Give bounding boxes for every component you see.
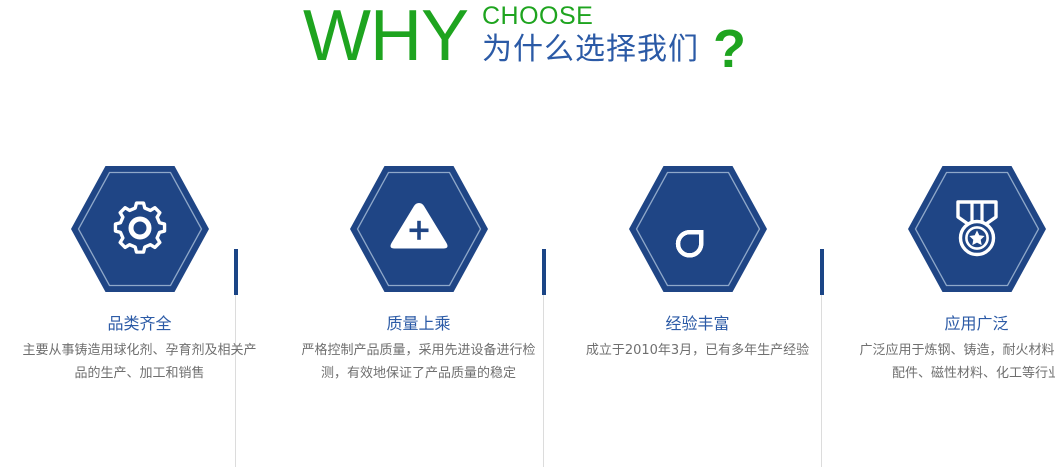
feature-description: 成立于2010年3月，已有多年生产经验 — [580, 339, 815, 362]
feature-column-3[interactable]: 经验丰富 成立于2010年3月，已有多年生产经验 — [558, 96, 837, 416]
feature-title: 品类齐全 — [0, 314, 279, 334]
clover-icon — [629, 166, 767, 292]
heading-choose: CHOOSE — [482, 3, 699, 30]
feature-columns: 品类齐全 主要从事铸造用球化剂、孕育剂及相关产品的生产、加工和销售 质量上乘 严… — [0, 96, 1055, 416]
section-header: WHY CHOOSE 为什么选择我们 ? — [0, 0, 1055, 96]
heading-why: WHY — [303, 0, 468, 72]
hexagon-badge-4 — [908, 166, 1046, 292]
hexagon-badge-1 — [71, 166, 209, 292]
gear-icon — [71, 166, 209, 292]
header-inner: WHY CHOOSE 为什么选择我们 ? — [303, 0, 746, 76]
heading-mid-block: CHOOSE 为什么选择我们 — [482, 3, 699, 68]
hexagon-badge-2 — [350, 166, 488, 292]
hexagon-badge-3 — [629, 166, 767, 292]
feature-column-2[interactable]: 质量上乘 严格控制产品质量，采用先进设备进行检测，有效地保证了产品质量的稳定 — [279, 96, 558, 416]
feature-description: 严格控制产品质量，采用先进设备进行检测，有效地保证了产品质量的稳定 — [301, 339, 536, 385]
feature-description: 主要从事铸造用球化剂、孕育剂及相关产品的生产、加工和销售 — [22, 339, 257, 385]
heading-cn-subtitle: 为什么选择我们 — [482, 32, 699, 68]
feature-title: 质量上乘 — [279, 314, 558, 334]
feature-title: 经验丰富 — [558, 314, 837, 334]
feature-title: 应用广泛 — [837, 314, 1055, 334]
triangle-plus-icon — [350, 166, 488, 292]
feature-description: 广泛应用于炼钢、铸造，耐火材料、汽车配件、磁性材料、化工等行业 — [859, 339, 1055, 385]
feature-column-4[interactable]: 应用广泛 广泛应用于炼钢、铸造，耐火材料、汽车配件、磁性材料、化工等行业 — [837, 96, 1055, 416]
feature-column-1[interactable]: 品类齐全 主要从事铸造用球化剂、孕育剂及相关产品的生产、加工和销售 — [0, 96, 279, 416]
medal-icon — [908, 166, 1046, 292]
heading-question-mark: ? — [713, 22, 746, 76]
